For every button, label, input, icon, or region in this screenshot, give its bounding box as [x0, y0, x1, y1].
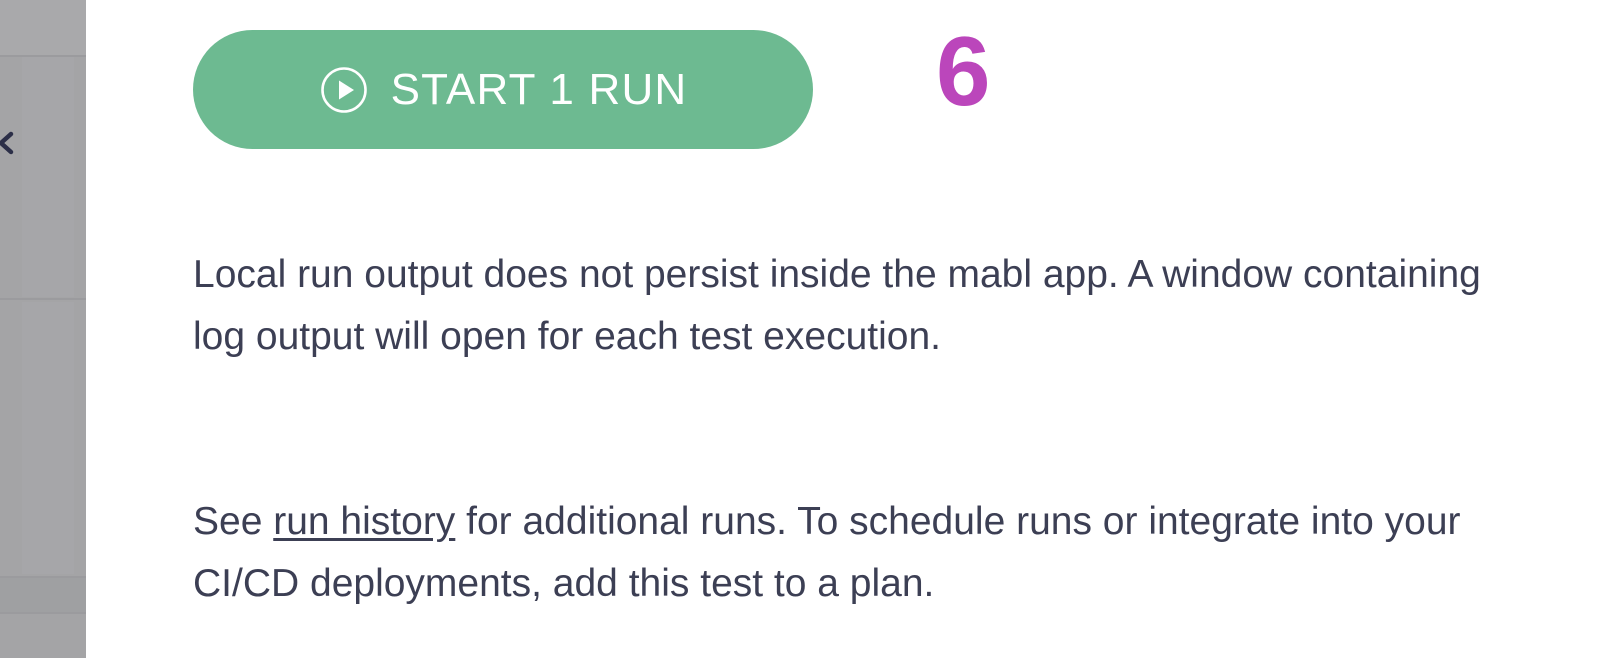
- run-history-text: See run history for additional runs. To …: [193, 491, 1493, 615]
- dimmed-sidebar-overlay: [0, 0, 86, 658]
- main-content-area: START 1 RUN 6 Local run output does not …: [86, 0, 1600, 658]
- run-history-link[interactable]: run history: [273, 500, 455, 543]
- run-history-text-prefix: See: [193, 500, 273, 543]
- sidebar-divider: [0, 612, 86, 614]
- start-run-button[interactable]: START 1 RUN: [193, 30, 813, 149]
- sidebar-divider: [0, 298, 86, 300]
- start-run-button-label: START 1 RUN: [391, 68, 688, 112]
- play-circle-icon: [319, 65, 369, 115]
- chevron-left-icon[interactable]: [0, 130, 18, 156]
- step-number-annotation: 6: [936, 22, 991, 120]
- sidebar-band: [0, 0, 86, 55]
- sidebar-tint: [22, 302, 74, 574]
- local-run-info-text: Local run output does not persist inside…: [193, 244, 1493, 368]
- sidebar-tint: [22, 57, 74, 297]
- sidebar-band: [0, 578, 86, 613]
